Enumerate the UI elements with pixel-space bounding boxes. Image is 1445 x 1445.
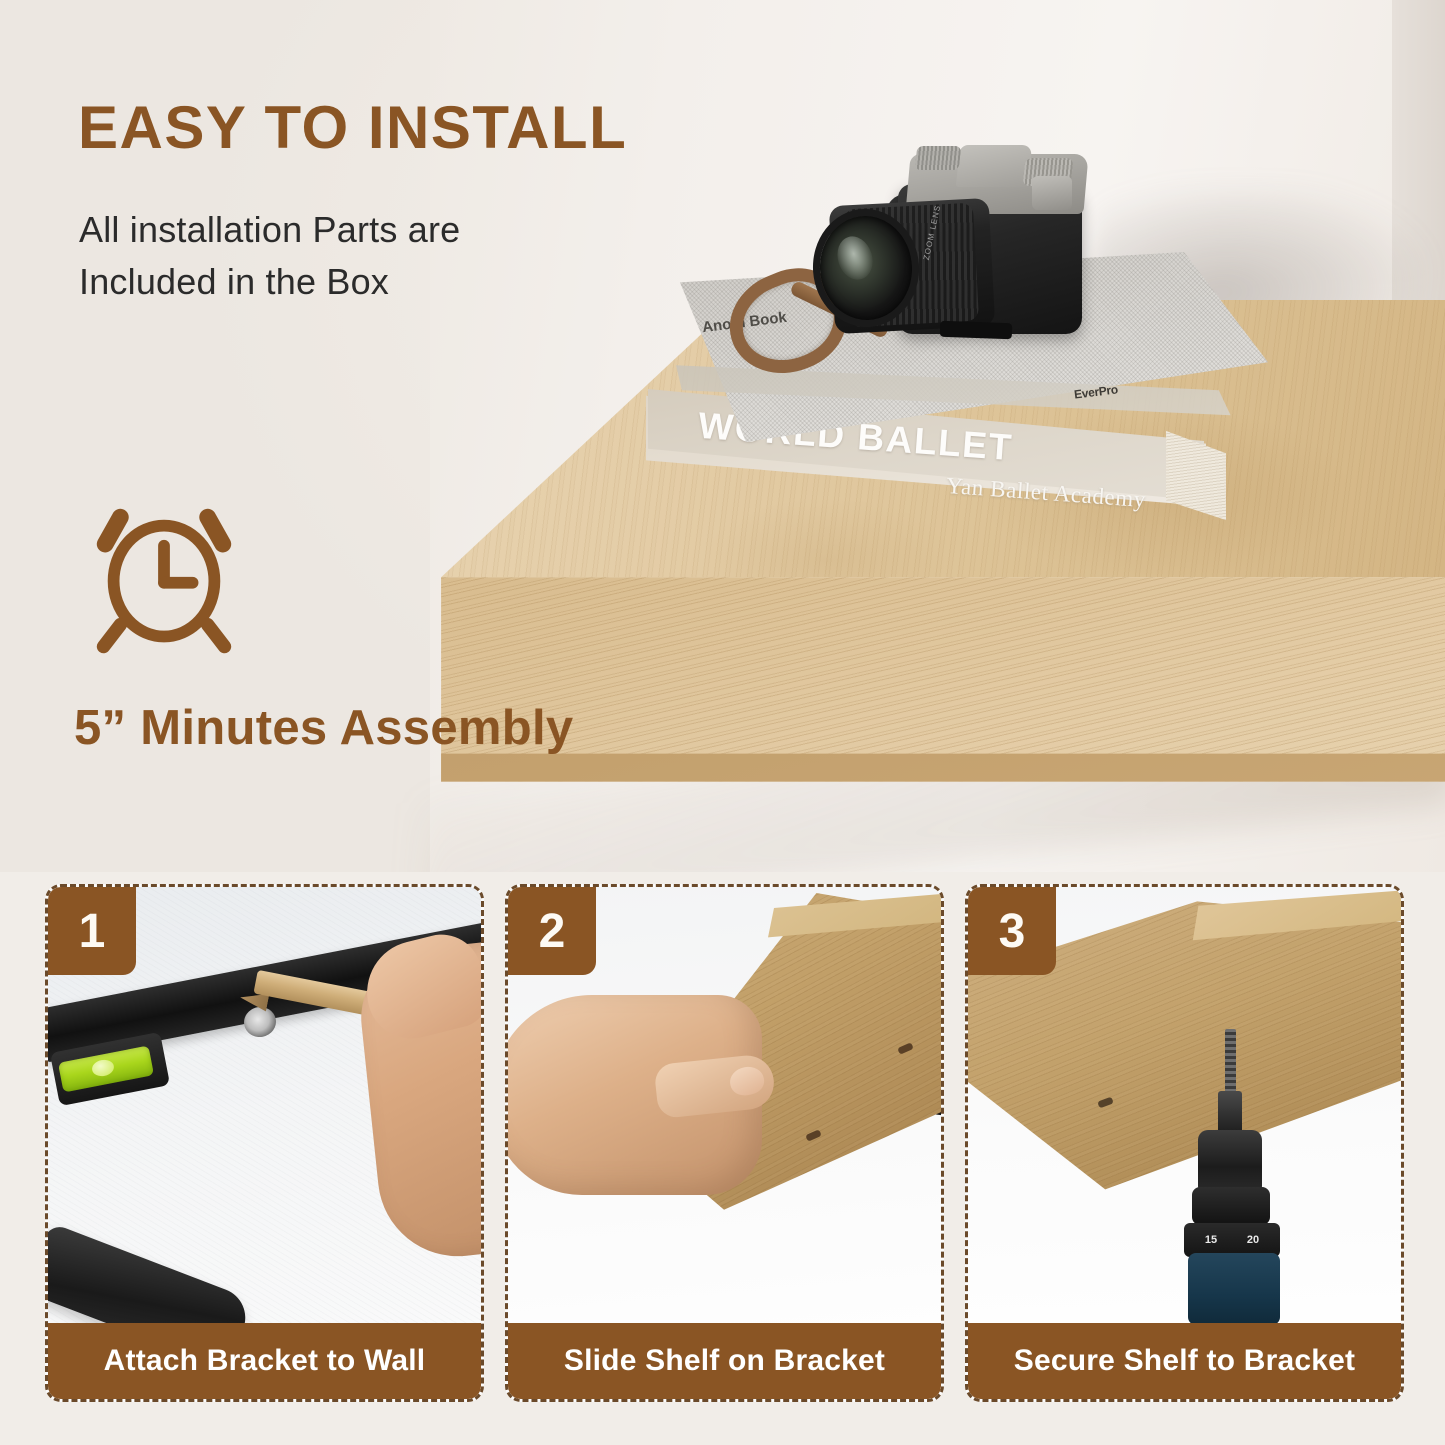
step-caption-2: Slide Shelf on Bracket [508,1323,941,1399]
drill-bit [1218,1091,1242,1133]
hero-section: WORLD BALLET Yan Ballet Academy Anoth Bo… [0,0,1445,872]
assembly-time-text: 5” Minutes Assembly [74,700,573,756]
drill-torque-scale: 15 20 [1184,1223,1280,1257]
torque-mark-15: 15 [1205,1234,1217,1246]
infographic-page: WORLD BALLET Yan Ballet Academy Anoth Bo… [0,0,1445,1445]
drill-clutch-collar [1192,1187,1270,1225]
hero-subheading-line-2: Included in the Box [79,256,460,308]
camera: ZOOM LENS [812,132,1112,376]
step-caption-1: Attach Bracket to Wall [48,1323,481,1399]
drill-chuck [1198,1130,1262,1192]
drill-body [1188,1253,1280,1325]
hero-subheading-line-1: All installation Parts are [79,204,460,256]
camera-viewfinder-prism [956,145,1032,187]
torque-mark-20: 20 [1247,1234,1259,1246]
step-panel-2: 2 Slide Shelf on Bracket [505,884,944,1402]
camera-shutter-dial [915,146,962,170]
camera-exposure-dial [1032,176,1072,210]
page-title: EASY TO INSTALL [78,96,627,159]
step-panel-3: 15 20 3 Secure Shelf to Bracket [965,884,1404,1402]
installation-steps: 1 Attach Bracket to Wall 2 Slide Shelf o… [0,872,1445,1445]
step-number-badge-2: 2 [508,887,596,975]
alarm-clock-icon [80,492,248,660]
step-panel-1: 1 Attach Bracket to Wall [45,884,484,1402]
step-number-badge-1: 1 [48,887,136,975]
step-caption-3: Secure Shelf to Bracket [968,1323,1401,1399]
camera-base-plate [940,321,1013,340]
step-number-badge-3: 3 [968,887,1056,975]
hero-subheading: All installation Parts are Included in t… [79,204,460,308]
